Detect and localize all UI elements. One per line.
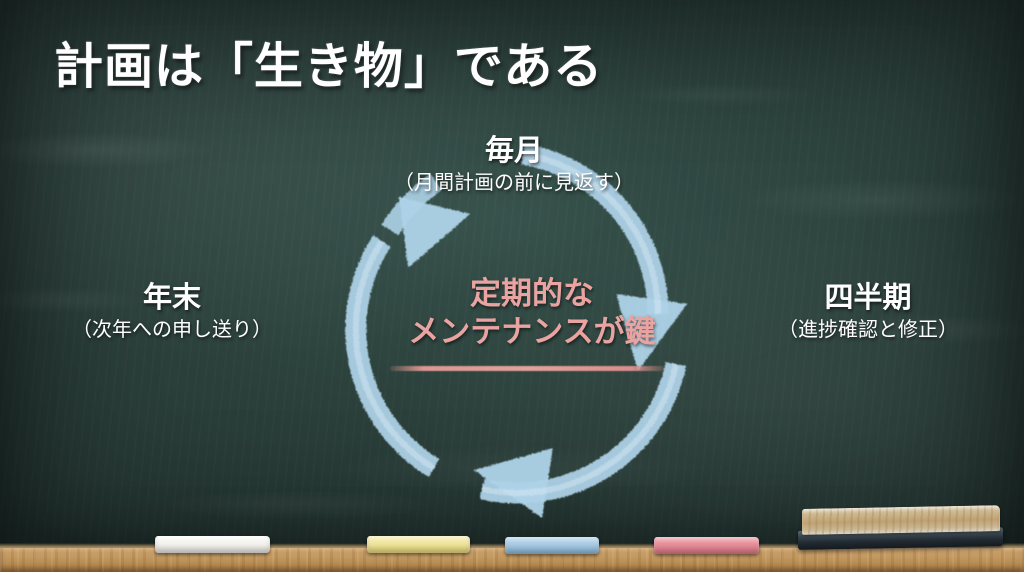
center-message-line1: 定期的な	[362, 275, 702, 313]
blackboard-eraser[interactable]	[798, 507, 1003, 547]
chalk-stick-white[interactable]	[155, 536, 270, 553]
center-message-line2: メンテナンスが鍵	[362, 313, 702, 351]
center-message: 定期的な メンテナンスが鍵	[362, 275, 702, 351]
cycle-node-left-head: 年末	[22, 281, 322, 315]
cycle-node-left: 年末 （次年への申し送り）	[22, 281, 322, 343]
cycle-node-right: 四半期 （進捗確認と修正）	[718, 281, 1018, 343]
cycle-node-right-head: 四半期	[718, 281, 1018, 315]
center-message-underline	[390, 366, 665, 371]
cycle-node-right-sub: （進捗確認と修正）	[718, 317, 1018, 343]
cycle-node-left-sub: （次年への申し送り）	[22, 317, 322, 343]
chalk-stick-yellow[interactable]	[367, 536, 470, 553]
slide-canvas: 計画は「生き物」である	[0, 0, 1024, 572]
page-title: 計画は「生き物」である	[54, 41, 603, 95]
cycle-node-top: 毎月 （月間計画の前に見返す）	[374, 134, 654, 196]
cycle-node-top-sub: （月間計画の前に見返す）	[374, 170, 654, 196]
chalk-stick-pink[interactable]	[654, 537, 759, 554]
chalk-stick-blue[interactable]	[505, 537, 599, 554]
arrow-bottom	[474, 364, 676, 518]
eraser-felt	[802, 505, 1000, 535]
cycle-node-top-head: 毎月	[374, 134, 654, 168]
